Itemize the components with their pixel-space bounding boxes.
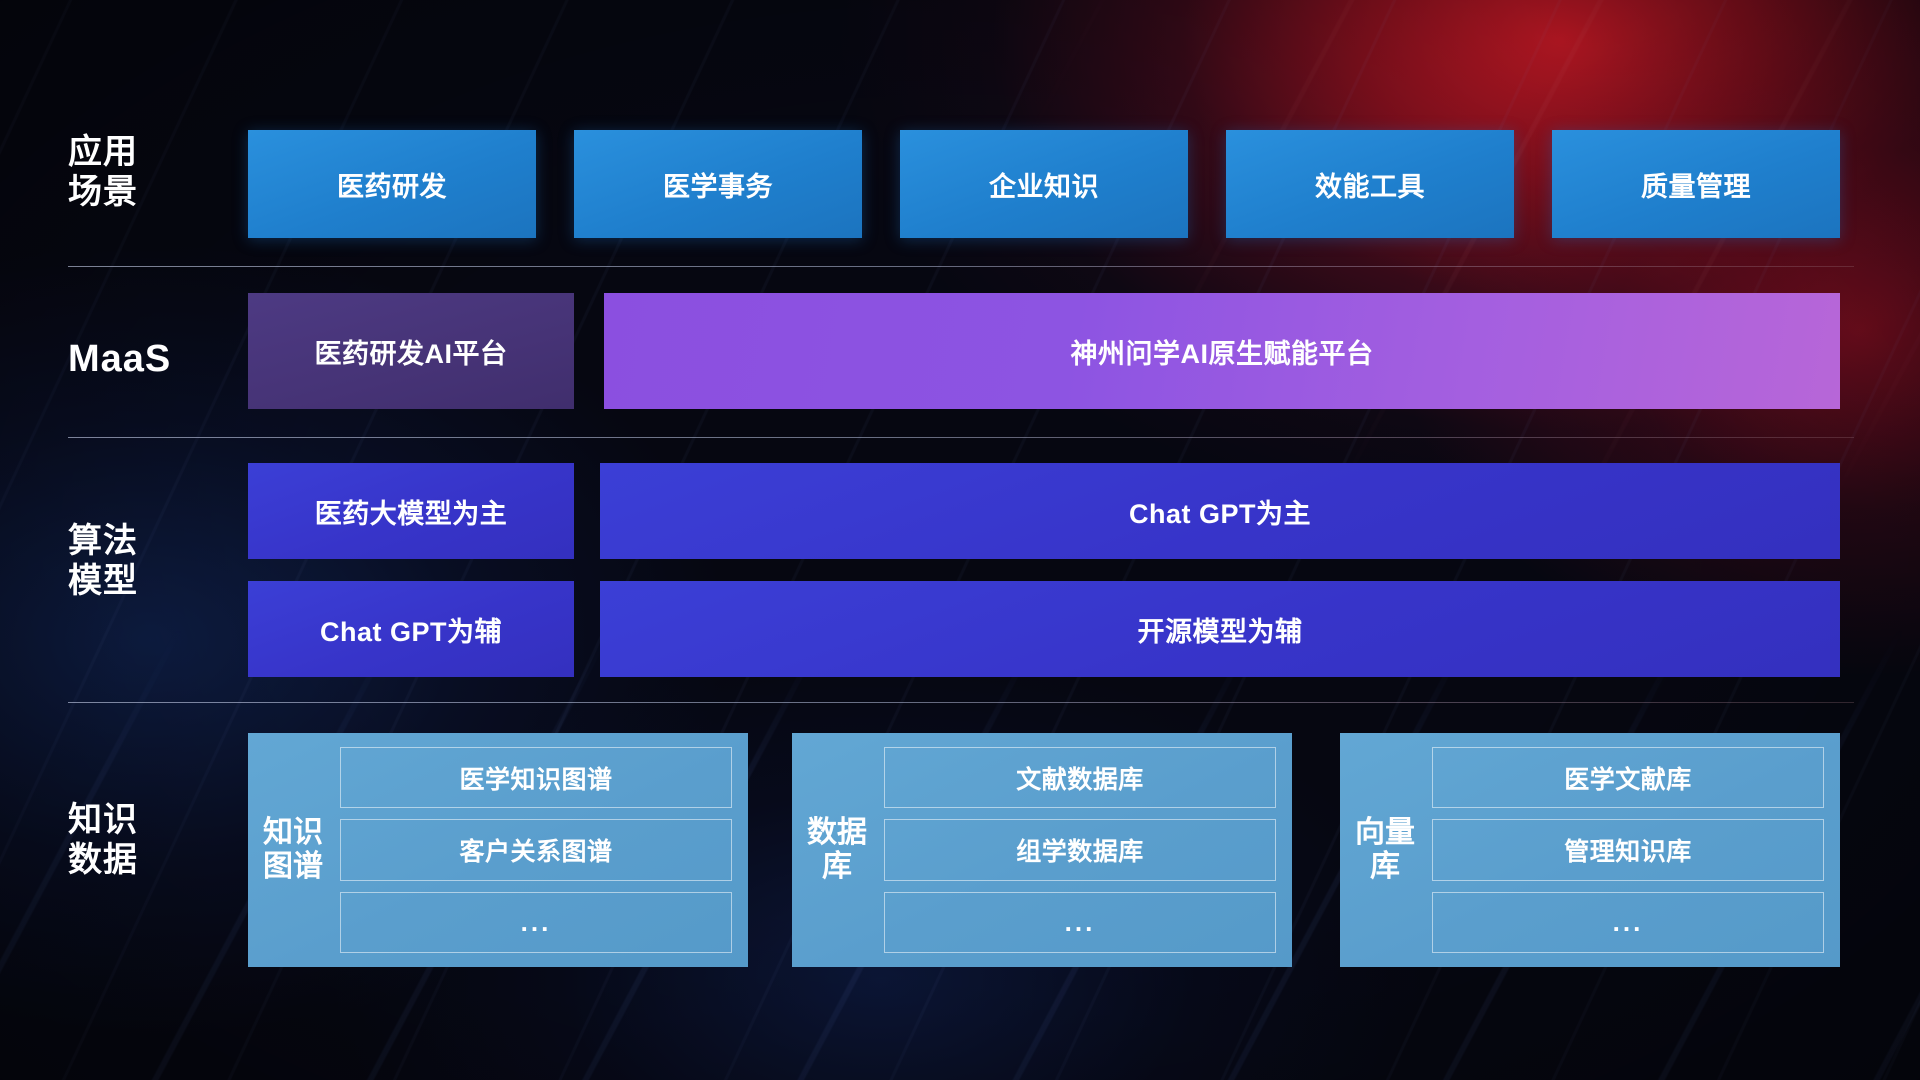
- maas-left-label: 医药研发AI平台: [315, 332, 508, 371]
- maas-right-box[interactable]: 神州问学AI原生赋能平台: [604, 293, 1840, 409]
- row-label-algorithm-line-2: 模型: [68, 561, 248, 601]
- app-box-1-label: 医药研发: [337, 165, 447, 204]
- algo-bar-2-right[interactable]: 开源模型为辅: [600, 581, 1840, 677]
- vector-item-1[interactable]: 医学文献库: [1432, 747, 1824, 808]
- divider-2: [68, 437, 1854, 438]
- row-label-line-1: 应用: [68, 132, 248, 172]
- vector-item-2[interactable]: 管理知识库: [1432, 819, 1824, 880]
- app-box-2-label: 医学事务: [663, 165, 773, 204]
- app-box-2[interactable]: 医学事务: [574, 130, 862, 238]
- maas-right-label: 神州问学AI原生赋能平台: [1071, 332, 1374, 371]
- knowledge-graph-item-1[interactable]: 医学知识图谱: [340, 747, 732, 808]
- knowledge-panel-graph-label: 知识图谱: [260, 747, 326, 953]
- database-item-more[interactable]: ...: [884, 892, 1276, 953]
- row-label-maas: MaaS: [68, 337, 248, 382]
- row-label-knowledge-line-1: 知识: [68, 800, 248, 840]
- knowledge-panel-graph-items: 医学知识图谱 客户关系图谱 ...: [326, 747, 732, 953]
- algo-bar-2-left[interactable]: Chat GPT为辅: [248, 581, 574, 677]
- row-label-algorithm-line-1: 算法: [68, 521, 248, 561]
- knowledge-panel-vector-items: 医学文献库 管理知识库 ...: [1418, 747, 1824, 953]
- vector-item-more[interactable]: ...: [1432, 892, 1824, 953]
- row-label-algorithm-model: 算法 模型: [68, 521, 248, 601]
- algo-bar-1-right[interactable]: Chat GPT为主: [600, 463, 1840, 559]
- app-box-1[interactable]: 医药研发: [248, 130, 536, 238]
- algo-bar-1-right-label: Chat GPT为主: [1129, 492, 1311, 531]
- slide-canvas: 应用 场景 医药研发 医学事务 企业知识 效能工具 质量管理 MaaS 医药研发…: [0, 0, 1920, 1080]
- app-box-5[interactable]: 质量管理: [1552, 130, 1840, 238]
- app-box-3-label: 企业知识: [989, 165, 1099, 204]
- algo-bar-1-left[interactable]: 医药大模型为主: [248, 463, 574, 559]
- algo-bar-1-left-label: 医药大模型为主: [315, 492, 508, 531]
- database-item-1[interactable]: 文献数据库: [884, 747, 1276, 808]
- app-box-5-label: 质量管理: [1641, 165, 1751, 204]
- knowledge-panel-vector-label: 向量库: [1352, 747, 1418, 953]
- algo-bar-2-right-label: 开源模型为辅: [1138, 610, 1303, 649]
- knowledge-panel-vector[interactable]: 向量库 医学文献库 管理知识库 ...: [1340, 733, 1840, 967]
- knowledge-panel-database-label: 数据库: [804, 747, 870, 953]
- divider-1: [68, 266, 1854, 267]
- divider-3: [68, 702, 1854, 703]
- row-label-maas-text: MaaS: [68, 337, 248, 382]
- knowledge-panel-database[interactable]: 数据库 文献数据库 组学数据库 ...: [792, 733, 1292, 967]
- algo-bar-2-left-label: Chat GPT为辅: [320, 610, 502, 649]
- app-box-4[interactable]: 效能工具: [1226, 130, 1514, 238]
- knowledge-panel-database-items: 文献数据库 组学数据库 ...: [870, 747, 1276, 953]
- knowledge-graph-item-more[interactable]: ...: [340, 892, 732, 953]
- maas-left-box[interactable]: 医药研发AI平台: [248, 293, 574, 409]
- knowledge-graph-item-2[interactable]: 客户关系图谱: [340, 819, 732, 880]
- architecture-diagram: 应用 场景 医药研发 医学事务 企业知识 效能工具 质量管理 MaaS 医药研发…: [0, 0, 1920, 1080]
- row-label-knowledge-line-2: 数据: [68, 840, 248, 880]
- knowledge-panel-graph[interactable]: 知识图谱 医学知识图谱 客户关系图谱 ...: [248, 733, 748, 967]
- database-item-2[interactable]: 组学数据库: [884, 819, 1276, 880]
- app-box-4-label: 效能工具: [1315, 165, 1425, 204]
- row-label-knowledge-data: 知识 数据: [68, 800, 248, 880]
- row-label-line-2: 场景: [68, 172, 248, 212]
- row-label-application-scenarios: 应用 场景: [68, 132, 248, 212]
- app-box-3[interactable]: 企业知识: [900, 130, 1188, 238]
